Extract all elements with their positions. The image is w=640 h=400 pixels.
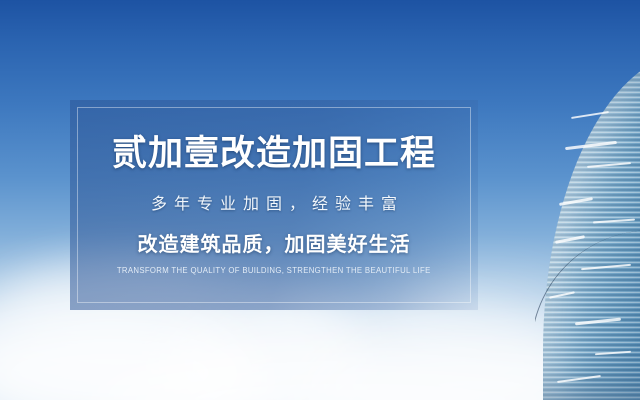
page-title: 贰加壹改造加固工程 bbox=[112, 135, 436, 172]
skyscraper-building bbox=[535, 52, 640, 400]
banner-subtitle-cn: 多年专业加固，经验丰富 bbox=[144, 190, 404, 214]
banner-image: 贰加壹改造加固工程 多年专业加固，经验丰富 改造建筑品质，加固美好生活 TRAN… bbox=[0, 0, 640, 400]
banner-slogan-en: TRANSFORM THE QUALITY OF BUILDING, STREN… bbox=[117, 266, 431, 275]
banner-slogan-cn: 改造建筑品质，加固美好生活 bbox=[138, 228, 411, 257]
banner-text-block: 贰加壹改造加固工程 多年专业加固，经验丰富 改造建筑品质，加固美好生活 TRAN… bbox=[70, 100, 478, 310]
